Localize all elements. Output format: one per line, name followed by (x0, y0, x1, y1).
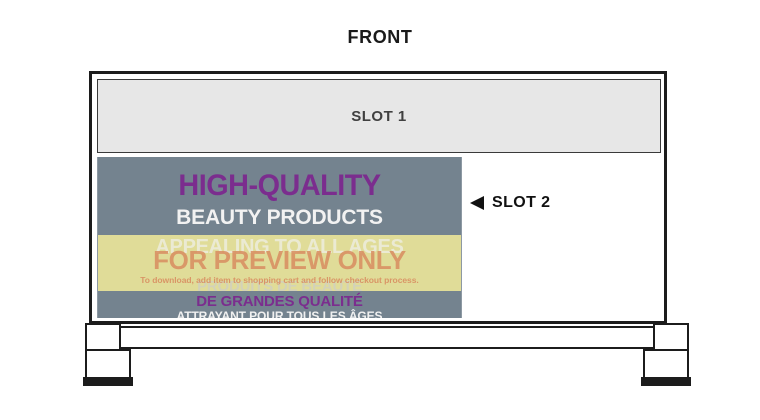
slot-1-panel[interactable]: SLOT 1 (97, 79, 661, 153)
slot-2-callout: SLOT 2 (470, 194, 550, 212)
right-leg-lower (643, 349, 689, 379)
slot-2-label: SLOT 2 (492, 194, 550, 212)
slot-2-poster[interactable]: HIGH-QUALITY BEAUTY PRODUCTS APPEALING T… (97, 157, 462, 318)
right-leg-upper (653, 323, 689, 351)
left-leg-lower (85, 349, 131, 379)
display-case-frame: SLOT 1 HIGH-QUALITY BEAUTY PRODUCTS APPE… (89, 71, 667, 324)
right-leg-foot (641, 377, 691, 386)
slot-1-label: SLOT 1 (351, 108, 407, 125)
left-leg-upper (85, 323, 121, 351)
poster-fr-tagline: ATTRAYANT POUR TOUS LES ÂGES (98, 310, 461, 318)
poster-subhead: BEAUTY PRODUCTS (98, 207, 461, 228)
arrow-left-icon (470, 196, 484, 210)
poster-fr-product: PRODUITS DE BEAUTÉ (98, 279, 461, 294)
stand-base-bar (95, 326, 661, 349)
poster-tagline: APPEALING TO ALL AGES (98, 237, 461, 257)
left-leg-foot (83, 377, 133, 386)
poster-text-layer: HIGH-QUALITY BEAUTY PRODUCTS APPEALING T… (98, 157, 461, 318)
poster-fr-headline: DE GRANDES QUALITÉ (98, 294, 461, 309)
poster-headline: HIGH-QUALITY (105, 171, 453, 201)
page-title: FRONT (0, 27, 760, 48)
